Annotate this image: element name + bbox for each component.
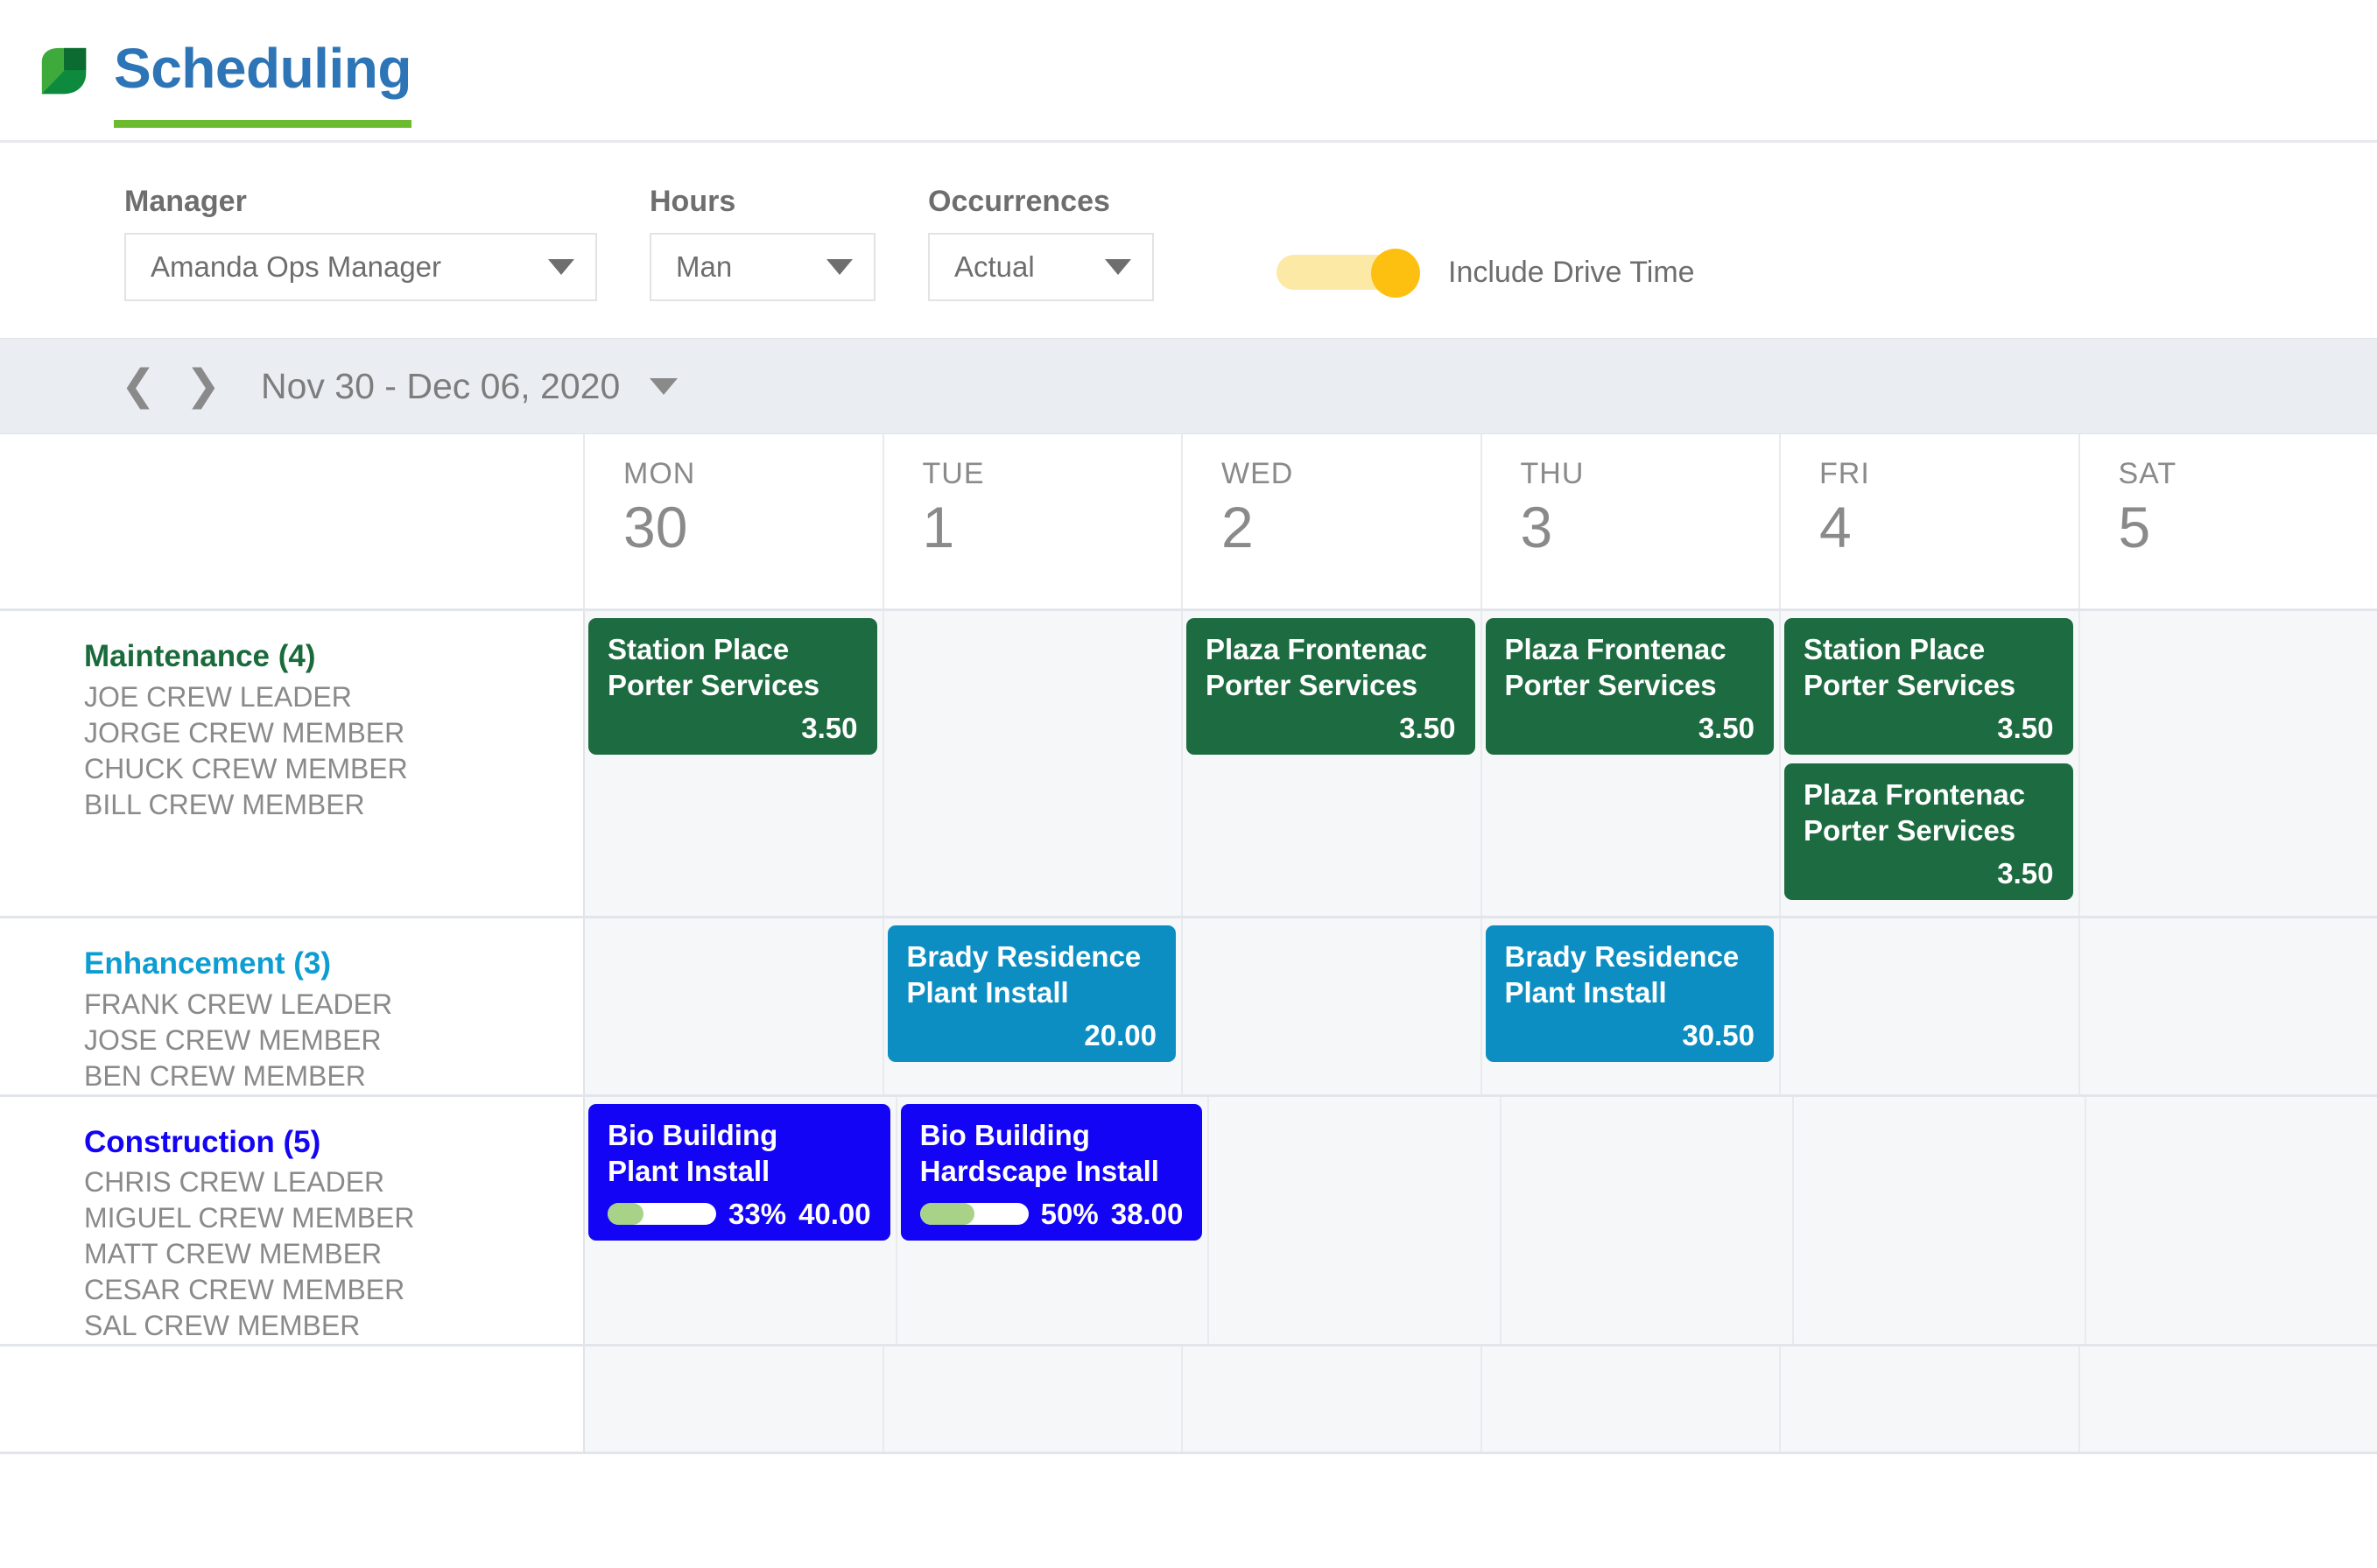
occurrences-label: Occurrences xyxy=(928,185,1154,219)
event-stack xyxy=(585,918,883,932)
crew-name: Construction (5) xyxy=(84,1123,583,1162)
scheduling-app: Scheduling Manager Amanda Ops Manager Ho… xyxy=(0,0,2377,1568)
day-header-thu[interactable]: THU3 xyxy=(1482,434,1782,608)
event-hours-label: 3.50 xyxy=(1399,714,1455,742)
include-drive-time-toggle[interactable] xyxy=(1276,249,1420,296)
event-stack: Station PlacePorter Services3.50Plaza Fr… xyxy=(1781,611,2078,916)
calendar-cell[interactable] xyxy=(585,1347,884,1452)
crew-member: JOE CREW LEADER xyxy=(84,679,583,715)
leaf-logo-icon xyxy=(37,45,91,99)
manager-label: Manager xyxy=(124,185,597,219)
day-number-label: 5 xyxy=(2119,491,2377,564)
crew-member: MIGUEL CREW MEMBER xyxy=(84,1200,583,1236)
event-stack: Brady ResidencePlant Install20.00 xyxy=(884,918,1182,1078)
day-of-week-label: WED xyxy=(1221,457,1480,491)
day-of-week-label: SAT xyxy=(2119,457,2377,491)
drive-time-toggle-group: Include Drive Time xyxy=(1276,249,1695,296)
date-navigation-bar: ❮ ❯ Nov 30 - Dec 06, 2020 xyxy=(0,338,2377,434)
event-stack: Plaza FrontenacPorter Services3.50 xyxy=(1183,611,1480,770)
chevron-down-icon xyxy=(826,259,853,275)
event-title-line-2: Plant Install xyxy=(1505,976,1755,1010)
chevron-left-icon[interactable]: ❮ xyxy=(114,365,163,407)
event-title-line-1: Plaza Frontenac xyxy=(1505,633,1755,667)
event-card[interactable]: Plaza FrontenacPorter Services3.50 xyxy=(1186,618,1475,755)
calendar-cell[interactable]: Brady ResidencePlant Install20.00 xyxy=(884,918,1184,1094)
occurrences-filter: Occurrences Actual xyxy=(928,185,1154,301)
chevron-down-icon xyxy=(1105,259,1131,275)
event-title-line-2: Porter Services xyxy=(1804,669,2054,703)
calendar-cell[interactable]: Station PlacePorter Services3.50Plaza Fr… xyxy=(1781,611,2080,916)
event-hours-label: 38.00 xyxy=(1111,1199,1184,1228)
toggle-knob xyxy=(1371,249,1420,298)
crew-member: MATT CREW MEMBER xyxy=(84,1236,583,1272)
day-number-label: 3 xyxy=(1521,491,1780,564)
day-of-week-label: TUE xyxy=(923,457,1182,491)
occurrences-select-value: Actual xyxy=(954,250,1035,284)
filter-bar: Manager Amanda Ops Manager Hours Man Occ… xyxy=(0,143,2377,338)
event-stack xyxy=(1794,1097,2085,1111)
event-card[interactable]: Station PlacePorter Services3.50 xyxy=(588,618,877,755)
crew-member: BEN CREW MEMBER xyxy=(84,1058,583,1094)
crew-row-empty xyxy=(0,1347,2377,1454)
day-number-label: 2 xyxy=(1221,491,1480,564)
event-title-line-2: Porter Services xyxy=(1804,814,2054,848)
event-stack xyxy=(2080,611,2377,625)
crew-name: Maintenance (4) xyxy=(84,637,583,676)
calendar-cell[interactable]: Bio BuildingPlant Install33%40.00 xyxy=(585,1097,897,1345)
event-card[interactable]: Brady ResidencePlant Install20.00 xyxy=(888,925,1177,1062)
event-stack: Bio BuildingPlant Install33%40.00 xyxy=(585,1097,896,1256)
calendar-cell[interactable] xyxy=(2080,611,2377,916)
calendar-cell[interactable]: Station PlacePorter Services3.50 xyxy=(585,611,884,916)
crew-member: CHUCK CREW MEMBER xyxy=(84,751,583,787)
event-progress: 33% xyxy=(608,1199,786,1228)
crew-label-cell[interactable]: Maintenance (4)JOE CREW LEADERJORGE CREW… xyxy=(0,611,585,916)
crew-label-cell[interactable]: Enhancement (3)FRANK CREW LEADERJOSE CRE… xyxy=(0,918,585,1094)
calendar-cell[interactable]: Brady ResidencePlant Install30.50 xyxy=(1482,918,1782,1094)
day-header-wed[interactable]: WED2 xyxy=(1183,434,1482,608)
crew-info: Enhancement (3)FRANK CREW LEADERJOSE CRE… xyxy=(0,918,583,1094)
calendar-header-row: MON30TUE1WED2THU3FRI4SAT5 xyxy=(0,434,2377,611)
crew-info: Construction (5)CHRIS CREW LEADERMIGUEL … xyxy=(0,1097,583,1345)
event-stack xyxy=(1209,1097,1500,1111)
day-of-week-label: THU xyxy=(1521,457,1780,491)
event-title-line-1: Plaza Frontenac xyxy=(1804,778,2054,812)
day-number-label: 1 xyxy=(923,491,1182,564)
event-footer: 3.50 xyxy=(608,714,858,742)
event-hours-label: 3.50 xyxy=(801,714,857,742)
event-title-line-1: Bio Building xyxy=(920,1119,1184,1153)
event-title-line-2: Plant Install xyxy=(608,1155,871,1189)
occurrences-select[interactable]: Actual xyxy=(928,233,1154,301)
day-header-mon[interactable]: MON30 xyxy=(585,434,884,608)
hours-filter: Hours Man xyxy=(650,185,876,301)
event-hours-label: 40.00 xyxy=(798,1199,871,1228)
hours-select[interactable]: Man xyxy=(650,233,876,301)
crew-member: SAL CREW MEMBER xyxy=(84,1308,583,1344)
progress-percent-label: 50% xyxy=(1041,1199,1099,1228)
event-title-line-2: Porter Services xyxy=(608,669,858,703)
event-hours-label: 20.00 xyxy=(1084,1021,1157,1050)
calendar-grid: MON30TUE1WED2THU3FRI4SAT5 Maintenance (4… xyxy=(0,434,2377,1454)
chevron-right-icon[interactable]: ❯ xyxy=(179,365,228,407)
crew-info: Maintenance (4)JOE CREW LEADERJORGE CREW… xyxy=(0,611,583,823)
calendar-cell[interactable] xyxy=(585,918,884,1094)
calendar-corner-cell xyxy=(0,434,585,608)
progress-bar-fill xyxy=(920,1203,974,1225)
chevron-down-icon xyxy=(548,259,574,275)
event-footer: 50%38.00 xyxy=(920,1199,1184,1228)
hours-select-value: Man xyxy=(676,250,732,284)
event-title-line-2: Porter Services xyxy=(1206,669,1456,703)
crew-member: CHRIS CREW LEADER xyxy=(84,1164,583,1200)
calendar-cell[interactable] xyxy=(1794,1097,2086,1345)
event-title-line-2: Hardscape Install xyxy=(920,1155,1184,1189)
event-title-line-1: Bio Building xyxy=(608,1119,871,1153)
include-drive-time-label: Include Drive Time xyxy=(1448,256,1695,290)
event-footer: 30.50 xyxy=(1505,1021,1755,1050)
calendar-body: Maintenance (4)JOE CREW LEADERJORGE CREW… xyxy=(0,611,2377,1454)
event-title-line-2: Porter Services xyxy=(1505,669,1755,703)
event-title-line-1: Plaza Frontenac xyxy=(1206,633,1456,667)
crew-label-cell[interactable]: Construction (5)CHRIS CREW LEADERMIGUEL … xyxy=(0,1097,585,1345)
event-title-line-1: Brady Residence xyxy=(1505,940,1755,974)
crew-row: Maintenance (4)JOE CREW LEADERJORGE CREW… xyxy=(0,611,2377,918)
day-header-sat[interactable]: SAT5 xyxy=(2080,434,2377,608)
progress-bar-fill xyxy=(608,1203,643,1225)
event-footer: 3.50 xyxy=(1804,859,2054,888)
calendar-cell[interactable] xyxy=(1781,918,2080,1094)
app-header: Scheduling xyxy=(0,0,2377,143)
event-stack xyxy=(1183,918,1480,932)
event-title-line-1: Brady Residence xyxy=(907,940,1157,974)
crew-row: Construction (5)CHRIS CREW LEADERMIGUEL … xyxy=(0,1097,2377,1347)
event-card[interactable]: Brady ResidencePlant Install30.50 xyxy=(1486,925,1775,1062)
progress-bar-track xyxy=(608,1203,716,1225)
day-number-label: 4 xyxy=(1819,491,2078,564)
event-card[interactable]: Bio BuildingPlant Install33%40.00 xyxy=(588,1104,890,1241)
event-footer: 3.50 xyxy=(1206,714,1456,742)
crew-label-cell[interactable] xyxy=(0,1347,585,1452)
event-footer: 20.00 xyxy=(907,1021,1157,1050)
calendar-cell[interactable] xyxy=(1183,1347,1482,1452)
day-header-fri[interactable]: FRI4 xyxy=(1781,434,2080,608)
crew-member: JORGE CREW MEMBER xyxy=(84,715,583,751)
day-header-tue[interactable]: TUE1 xyxy=(884,434,1184,608)
calendar-cell[interactable] xyxy=(1183,918,1482,1094)
calendar-cell[interactable] xyxy=(1781,1347,2080,1452)
crew-row: Enhancement (3)FRANK CREW LEADERJOSE CRE… xyxy=(0,918,2377,1097)
progress-bar-track xyxy=(920,1203,1029,1225)
page-title-wrap: Scheduling xyxy=(114,0,411,143)
calendar-cell[interactable]: Bio BuildingHardscape Install50%38.00 xyxy=(897,1097,1210,1345)
event-stack xyxy=(2086,1097,2377,1111)
event-card[interactable]: Bio BuildingHardscape Install50%38.00 xyxy=(901,1104,1203,1241)
event-hours-label: 3.50 xyxy=(1997,714,2053,742)
progress-percent-label: 33% xyxy=(728,1199,786,1228)
event-stack: Brady ResidencePlant Install30.50 xyxy=(1482,918,1780,1078)
event-footer: 3.50 xyxy=(1804,714,2054,742)
event-stack xyxy=(884,611,1182,625)
event-stack: Station PlacePorter Services3.50 xyxy=(585,611,883,770)
manager-filter: Manager Amanda Ops Manager xyxy=(124,185,597,301)
page-title: Scheduling xyxy=(114,40,411,103)
crew-member: BILL CREW MEMBER xyxy=(84,787,583,823)
crew-name: Enhancement (3) xyxy=(84,945,583,983)
event-stack xyxy=(2080,918,2377,932)
event-stack xyxy=(1501,1097,1792,1111)
day-of-week-label: FRI xyxy=(1819,457,2078,491)
calendar-cell[interactable] xyxy=(2086,1097,2377,1345)
event-card[interactable]: Plaza FrontenacPorter Services3.50 xyxy=(1784,763,2073,900)
calendar-cell[interactable] xyxy=(1209,1097,1501,1345)
event-title-line-1: Station Place xyxy=(1804,633,2054,667)
event-title-line-2: Plant Install xyxy=(907,976,1157,1010)
event-hours-label: 3.50 xyxy=(1698,714,1755,742)
calendar-cell[interactable] xyxy=(2080,1347,2377,1452)
crew-member: FRANK CREW LEADER xyxy=(84,987,583,1023)
event-footer: 33%40.00 xyxy=(608,1199,871,1228)
caret-down-icon[interactable] xyxy=(650,378,678,395)
event-title-line-1: Station Place xyxy=(608,633,858,667)
event-stack: Bio BuildingHardscape Install50%38.00 xyxy=(897,1097,1208,1256)
event-card[interactable]: Plaza FrontenacPorter Services3.50 xyxy=(1486,618,1775,755)
event-hours-label: 3.50 xyxy=(1997,859,2053,888)
event-hours-label: 30.50 xyxy=(1682,1021,1755,1050)
crew-member: CESAR CREW MEMBER xyxy=(84,1272,583,1308)
manager-select[interactable]: Amanda Ops Manager xyxy=(124,233,597,301)
crew-member: JOSE CREW MEMBER xyxy=(84,1023,583,1058)
calendar-cell[interactable] xyxy=(1501,1097,1794,1345)
day-of-week-label: MON xyxy=(623,457,883,491)
calendar-cell[interactable]: Plaza FrontenacPorter Services3.50 xyxy=(1183,611,1482,916)
day-number-label: 30 xyxy=(623,491,883,564)
calendar-cell[interactable]: Plaza FrontenacPorter Services3.50 xyxy=(1482,611,1782,916)
calendar-cell[interactable] xyxy=(2080,918,2377,1094)
calendar-cell[interactable] xyxy=(884,611,1184,916)
event-stack xyxy=(1781,918,2078,932)
hours-label: Hours xyxy=(650,185,876,219)
event-progress: 50% xyxy=(920,1199,1099,1228)
calendar-cell[interactable] xyxy=(884,1347,1184,1452)
title-underline xyxy=(114,120,411,128)
event-footer: 3.50 xyxy=(1505,714,1755,742)
date-range-label[interactable]: Nov 30 - Dec 06, 2020 xyxy=(261,366,620,407)
calendar-cell[interactable] xyxy=(1482,1347,1782,1452)
event-card[interactable]: Station PlacePorter Services3.50 xyxy=(1784,618,2073,755)
event-stack: Plaza FrontenacPorter Services3.50 xyxy=(1482,611,1780,770)
manager-select-value: Amanda Ops Manager xyxy=(151,250,441,284)
